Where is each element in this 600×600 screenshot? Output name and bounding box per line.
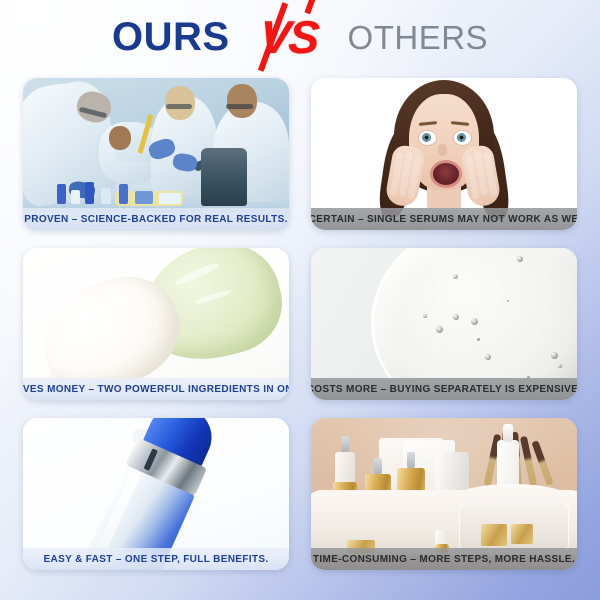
gel-bubble <box>485 354 491 360</box>
lab-vial <box>159 193 181 204</box>
card-caption: EASY & FAST – ONE STEP, FULL BENEFITS. <box>23 548 289 570</box>
iris-left <box>422 133 431 142</box>
card-caption: SAVES MONEY – TWO POWERFUL INGREDIENTS I… <box>23 378 289 400</box>
scientist-head-back <box>109 126 131 150</box>
cream-jar <box>435 452 469 492</box>
card-caption: TIME-CONSUMING – MORE STEPS, MORE HASSLE… <box>311 548 577 570</box>
versus-label: VS <box>258 14 319 60</box>
header: OURS VS OTHERS <box>0 0 600 74</box>
gel-bubble <box>471 318 478 325</box>
gold-lipstick-case <box>511 524 533 544</box>
versus-badge: VS <box>230 6 348 68</box>
card-caption: UNCERTAIN – SINGLE SERUMS MAY NOT WORK A… <box>311 208 577 230</box>
card-ours-saves-money: SAVES MONEY – TWO POWERFUL INGREDIENTS I… <box>23 248 289 400</box>
gold-lipstick-case <box>481 524 507 546</box>
lab-vial <box>135 191 153 204</box>
gel-bubble <box>551 352 558 359</box>
pump-head-icon <box>341 436 349 452</box>
gel-bubble <box>517 256 523 262</box>
lab-vial <box>119 184 128 204</box>
nose <box>438 144 447 156</box>
gel-bubble <box>558 364 562 368</box>
gel-bubble <box>436 326 443 333</box>
microscope-icon <box>201 148 247 206</box>
comparison-grid: PROVEN – SCIENCE-BACKED FOR REAL RESULTS… <box>23 78 577 578</box>
safety-goggles-right-icon <box>226 104 253 109</box>
scientist-head-mid <box>165 86 195 120</box>
card-others-uncertain: UNCERTAIN – SINGLE SERUMS MAY NOT WORK A… <box>311 78 577 230</box>
gel-bubble <box>423 314 427 318</box>
card-caption: COSTS MORE – BUYING SEPARATELY IS EXPENS… <box>311 378 577 400</box>
lab-vial <box>57 184 66 204</box>
card-ours-easy-fast: EASY & FAST – ONE STEP, FULL BENEFITS. <box>23 418 289 570</box>
pump-head-icon <box>374 458 382 474</box>
header-ours-title: OURS <box>112 17 230 57</box>
card-caption: PROVEN – SCIENCE-BACKED FOR REAL RESULTS… <box>23 208 289 230</box>
comparison-infographic: OURS VS OTHERS <box>0 0 600 600</box>
gel-speck <box>507 300 509 302</box>
gel-speck <box>477 338 480 341</box>
lab-vial <box>85 182 94 204</box>
card-others-time-consuming: TIME-CONSUMING – MORE STEPS, MORE HASSLE… <box>311 418 577 570</box>
open-mouth <box>430 160 462 188</box>
gel-bubble <box>453 314 459 320</box>
iris-right <box>457 133 466 142</box>
card-ours-proven: PROVEN – SCIENCE-BACKED FOR REAL RESULTS… <box>23 78 289 230</box>
header-others-title: OTHERS <box>348 21 489 54</box>
card-others-costs-more: COSTS MORE – BUYING SEPARATELY IS EXPENS… <box>311 248 577 400</box>
pump-head-icon <box>407 452 415 468</box>
lab-vial <box>101 188 111 204</box>
gel-bubble <box>453 274 458 279</box>
scientist-head-right <box>227 84 257 118</box>
safety-goggles-mid-icon <box>166 104 192 109</box>
lab-vial <box>71 190 80 204</box>
